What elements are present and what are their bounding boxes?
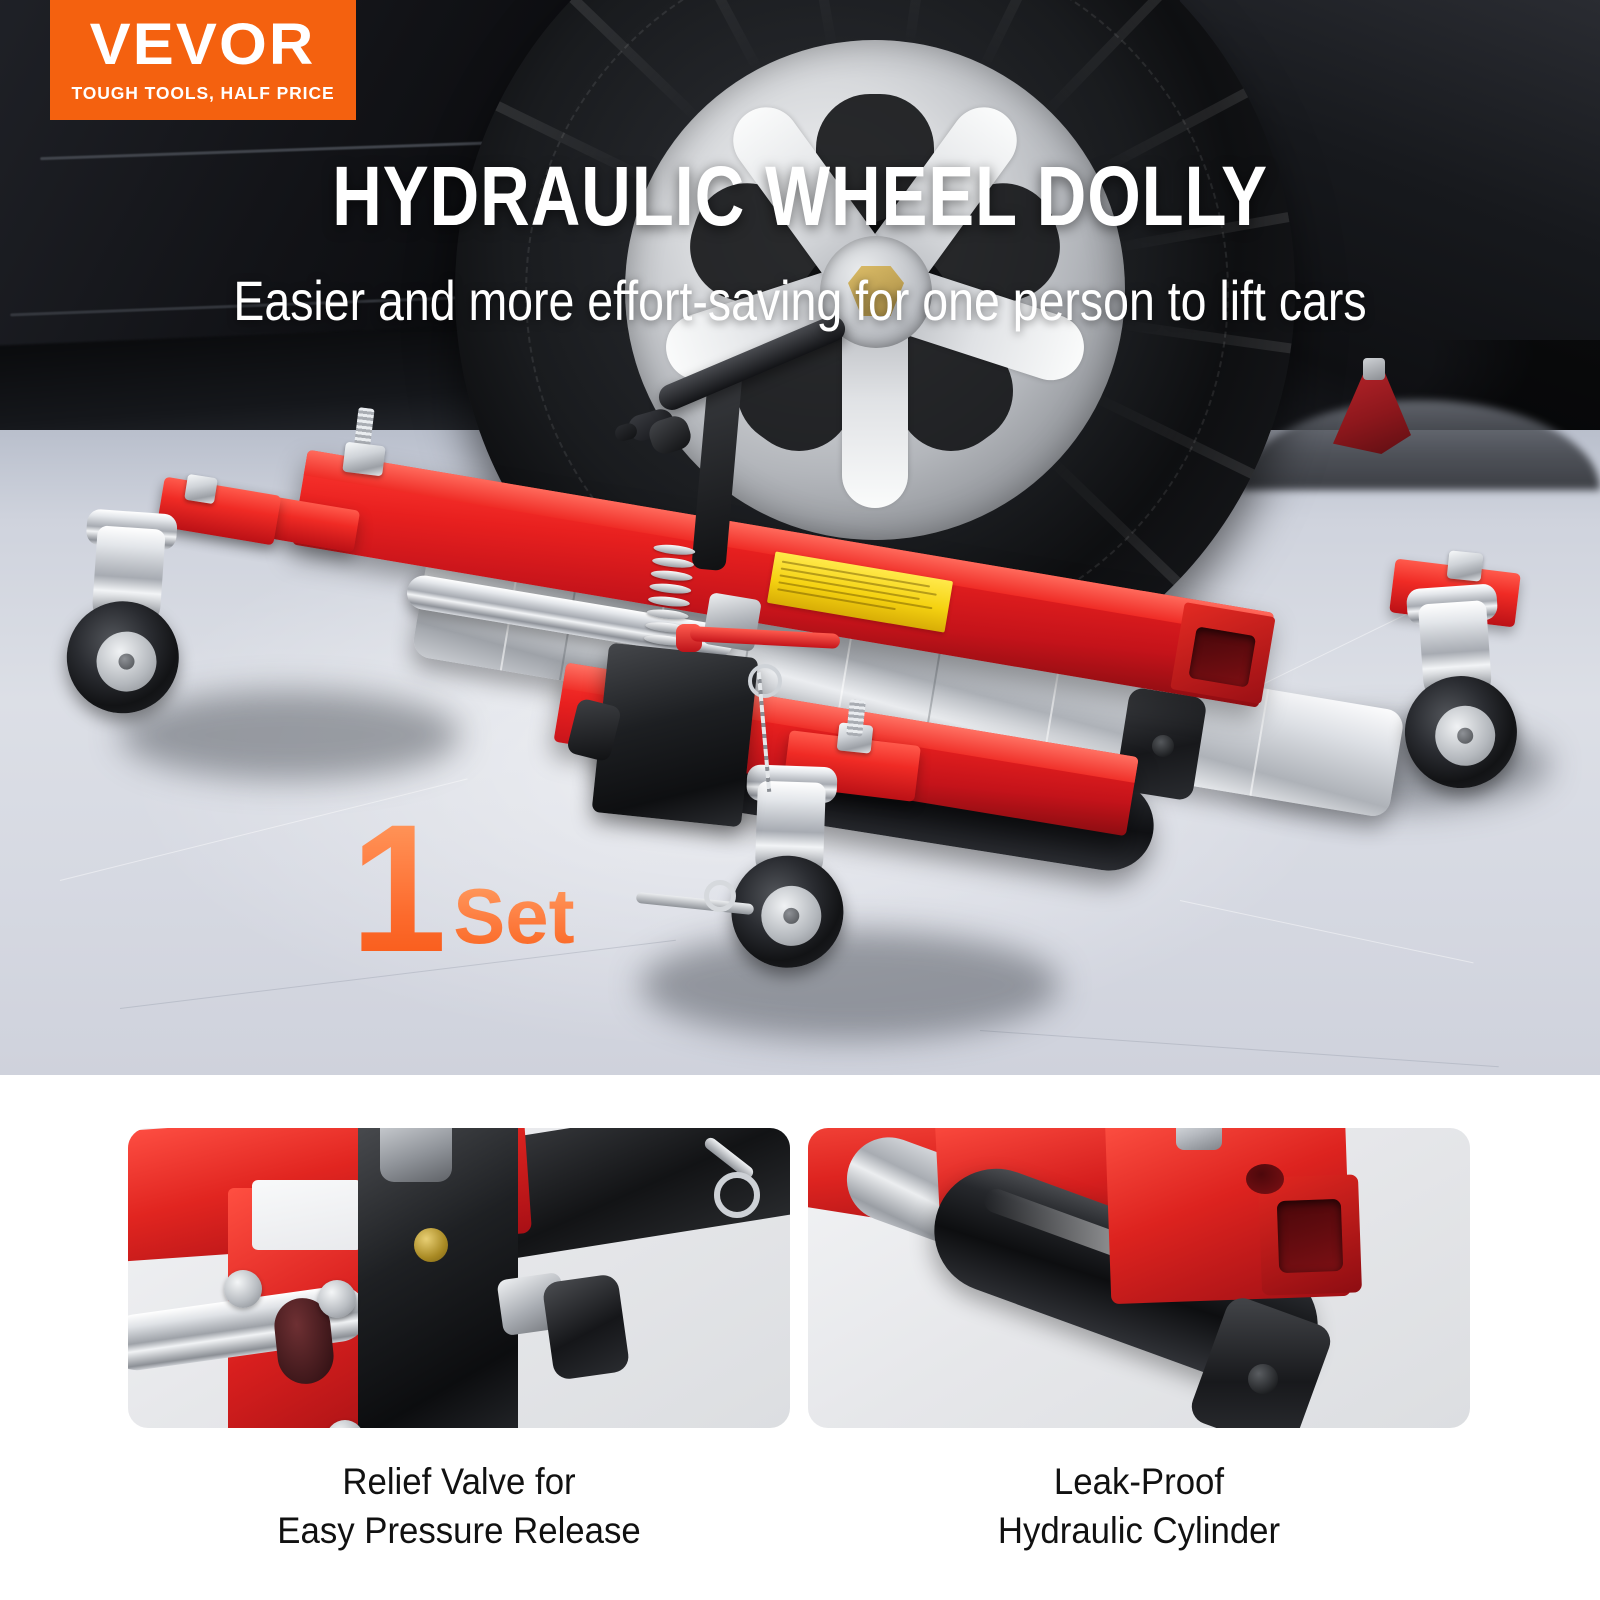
caption-line-1: Leak-Proof xyxy=(828,1458,1450,1507)
product-marketing-image: VEVOR TOUGH TOOLS, HALF PRICE HYDRAULIC … xyxy=(0,0,1600,1600)
locking-pin-ring xyxy=(748,664,782,698)
product-shadow xyxy=(640,930,1060,1040)
tube-pin-hole xyxy=(1246,1164,1284,1194)
product-shadow xyxy=(120,690,460,780)
valve-top-fitting xyxy=(380,1128,452,1182)
tube-top-bolt xyxy=(1176,1128,1222,1150)
feature-section: Relief Valve for Easy Pressure Release L… xyxy=(0,1075,1600,1600)
hex-nut xyxy=(342,442,385,477)
caption-line-1: Relief Valve for xyxy=(148,1458,770,1507)
locking-pin-handle xyxy=(704,880,736,912)
mount-bolt xyxy=(224,1270,262,1308)
pump-handle-knob xyxy=(646,413,695,458)
tube-bore xyxy=(1277,1199,1343,1273)
vevor-logo: VEVOR TOUGH TOOLS, HALF PRICE xyxy=(50,0,356,120)
beam-open-end xyxy=(1170,602,1275,704)
quantity-number: 1 xyxy=(351,808,447,968)
brand-tagline: TOUGH TOOLS, HALF PRICE xyxy=(71,83,334,104)
feature-caption-left: Relief Valve for Easy Pressure Release xyxy=(148,1458,770,1556)
quantity-unit: Set xyxy=(453,882,574,951)
hitch-pin-ring xyxy=(714,1172,760,1218)
caption-line-2: Hydraulic Cylinder xyxy=(828,1507,1450,1556)
hero-subtitle: Easier and more effort-saving for one pe… xyxy=(136,272,1464,331)
hydraulic-pump-block xyxy=(592,643,759,828)
brass-screw xyxy=(414,1228,448,1262)
quantity-badge: 1 Set xyxy=(348,808,575,968)
hero-title: HYDRAULIC WHEEL DOLLY xyxy=(144,154,1456,238)
caster-bolt xyxy=(1447,550,1484,581)
mount-bolt xyxy=(318,1280,356,1318)
beam-bore xyxy=(1188,626,1256,687)
feature-panel-hydraulic-cylinder xyxy=(808,1128,1470,1428)
feature-panel-relief-valve xyxy=(128,1128,790,1428)
hero-image: VEVOR TOUGH TOOLS, HALF PRICE HYDRAULIC … xyxy=(0,0,1600,1075)
feature-caption-right: Leak-Proof Hydraulic Cylinder xyxy=(828,1458,1450,1556)
caption-line-2: Easy Pressure Release xyxy=(148,1507,770,1556)
relief-valve-knob xyxy=(542,1273,631,1381)
cylinder-port xyxy=(1248,1364,1278,1394)
bracket-notch xyxy=(252,1180,362,1250)
brand-name: VEVOR xyxy=(90,16,316,74)
caster-bolt xyxy=(184,474,218,504)
